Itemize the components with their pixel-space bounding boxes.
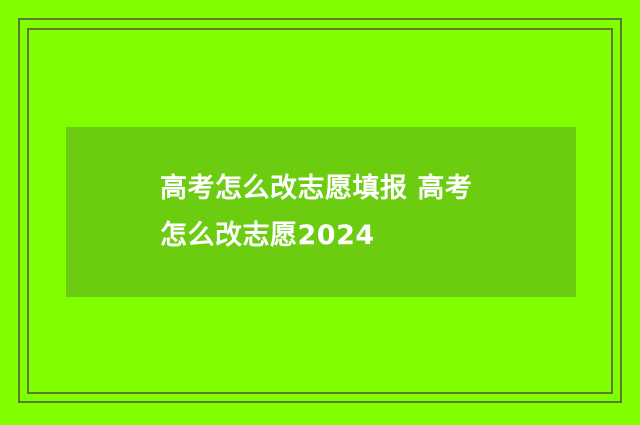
headline-panel: 高考怎么改志愿填报 高考怎么改志愿2024 <box>66 127 576 297</box>
thumbnail-canvas: 高考怎么改志愿填报 高考怎么改志愿2024 <box>0 0 640 425</box>
headline-text: 高考怎么改志愿填报 高考怎么改志愿2024 <box>66 165 490 259</box>
